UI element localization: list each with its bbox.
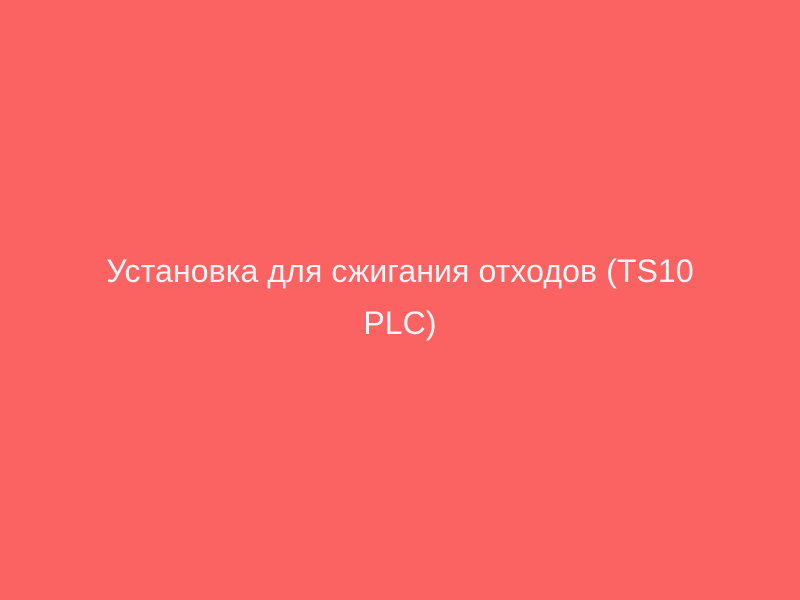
image-placeholder-card: Установка для сжигания отходов (TS10 PLC… [0,0,800,600]
placeholder-caption: Установка для сжигания отходов (TS10 PLC… [90,245,710,349]
caption-block: Установка для сжигания отходов (TS10 PLC… [90,245,710,349]
